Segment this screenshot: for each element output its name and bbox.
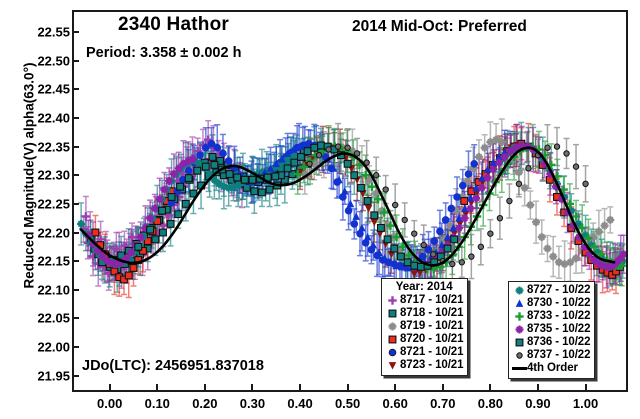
y-tick-label: 22.50 xyxy=(6,53,70,68)
circle-small-marker-icon xyxy=(512,349,527,362)
square-fill-marker-icon xyxy=(385,333,400,346)
x-tick-label: 0.90 xyxy=(525,396,550,411)
legend-item-label: 8733 - 10/22 xyxy=(527,310,590,323)
y-tick-label: 22.25 xyxy=(6,196,70,211)
x-tick-label: 1.00 xyxy=(573,396,598,411)
legend-item: 8720 - 10/21 xyxy=(385,333,463,346)
legend-item-label: 8736 - 10/22 xyxy=(527,336,590,349)
epoch-annotation: JDo(LTC): 2456951.837018 xyxy=(82,358,264,374)
square-fill-marker-icon xyxy=(512,336,527,349)
legend-item: 8733 - 10/22 xyxy=(512,310,590,323)
legend-item: 8736 - 10/22 xyxy=(512,336,590,349)
chart-figure: Reduced Magnitude(V) alpha(63.0°) 21.952… xyxy=(0,0,640,419)
x-tick-label: 0.00 xyxy=(97,396,122,411)
y-tick-label: 21.95 xyxy=(6,368,70,383)
legend-item: 8723 - 10/21 xyxy=(385,359,463,372)
y-tick-label: 22.05 xyxy=(6,311,70,326)
x-tick-label: 0.60 xyxy=(383,396,408,411)
x-tick-label: 0.50 xyxy=(335,396,360,411)
legend-item-label: 8720 - 10/21 xyxy=(400,333,463,346)
legend-item-label: 8735 - 10/22 xyxy=(527,323,590,336)
legend-item-label: 8730 - 10/22 xyxy=(527,297,590,310)
line-marker-icon xyxy=(512,362,527,375)
legend-item: 8735 - 10/22 xyxy=(512,323,590,336)
star-marker-icon xyxy=(385,320,400,333)
legend-item: 8727 - 10/22 xyxy=(512,284,590,297)
x-tick-label: 0.20 xyxy=(192,396,217,411)
legend-item-label: 8723 - 10/21 xyxy=(400,359,463,372)
legend-item: 8719 - 10/21 xyxy=(385,320,463,333)
period-annotation: Period: 3.358 ± 0.002 h xyxy=(86,45,241,61)
legend-item-label: 8737 - 10/22 xyxy=(527,349,590,362)
legend-left-box: Year: 2014 8717 - 10/218718 - 10/218719 … xyxy=(381,278,468,376)
square-fill-marker-icon xyxy=(385,307,400,320)
legend-item-label: 8718 - 10/21 xyxy=(400,307,463,320)
y-tick-label: 22.35 xyxy=(6,139,70,154)
x-tick-label: 0.80 xyxy=(478,396,503,411)
circle-fill-marker-icon xyxy=(385,346,400,359)
legend-item-label: 4th Order xyxy=(527,362,578,375)
x-tick-label: 0.70 xyxy=(430,396,455,411)
x-tick-label: 0.30 xyxy=(240,396,265,411)
legend-item-label: 8727 - 10/22 xyxy=(527,284,590,297)
y-tick-label: 22.30 xyxy=(6,168,70,183)
triangle-down-marker-icon xyxy=(385,359,400,372)
star-marker-icon xyxy=(512,323,527,336)
legend-item: 8730 - 10/22 xyxy=(512,297,590,310)
y-tick-label: 22.20 xyxy=(6,225,70,240)
chart-subtitle: 2014 Mid-Oct: Preferred xyxy=(352,18,527,36)
plus-thick-marker-icon xyxy=(512,310,527,323)
legend-item: 8718 - 10/21 xyxy=(385,307,463,320)
plus-thick-marker-icon xyxy=(385,294,400,307)
x-tick-label: 0.40 xyxy=(287,396,312,411)
triangle-up-marker-icon xyxy=(512,297,527,310)
star-marker-icon xyxy=(512,284,527,297)
y-tick-label: 22.45 xyxy=(6,82,70,97)
legend-item: 8721 - 10/21 xyxy=(385,346,463,359)
legend-item-label: 8719 - 10/21 xyxy=(400,320,463,333)
legend-right-box: 8727 - 10/228730 - 10/228733 - 10/228735… xyxy=(508,281,595,379)
y-tick-label: 22.10 xyxy=(6,282,70,297)
y-tick-label: 22.55 xyxy=(6,25,70,40)
y-tick-label: 22.40 xyxy=(6,110,70,125)
y-tick-label: 22.00 xyxy=(6,340,70,355)
chart-title: 2340 Hathor xyxy=(118,14,229,36)
legend-item-label: 8717 - 10/21 xyxy=(400,294,463,307)
y-tick-label: 22.15 xyxy=(6,254,70,269)
legend-item: 8717 - 10/21 xyxy=(385,294,463,307)
legend-item: 8737 - 10/22 xyxy=(512,349,590,362)
legend-item-label: 8721 - 10/21 xyxy=(400,346,463,359)
legend-item: 4th Order xyxy=(512,362,590,375)
x-tick-label: 0.10 xyxy=(145,396,170,411)
legend-title: Year: 2014 xyxy=(385,281,463,294)
